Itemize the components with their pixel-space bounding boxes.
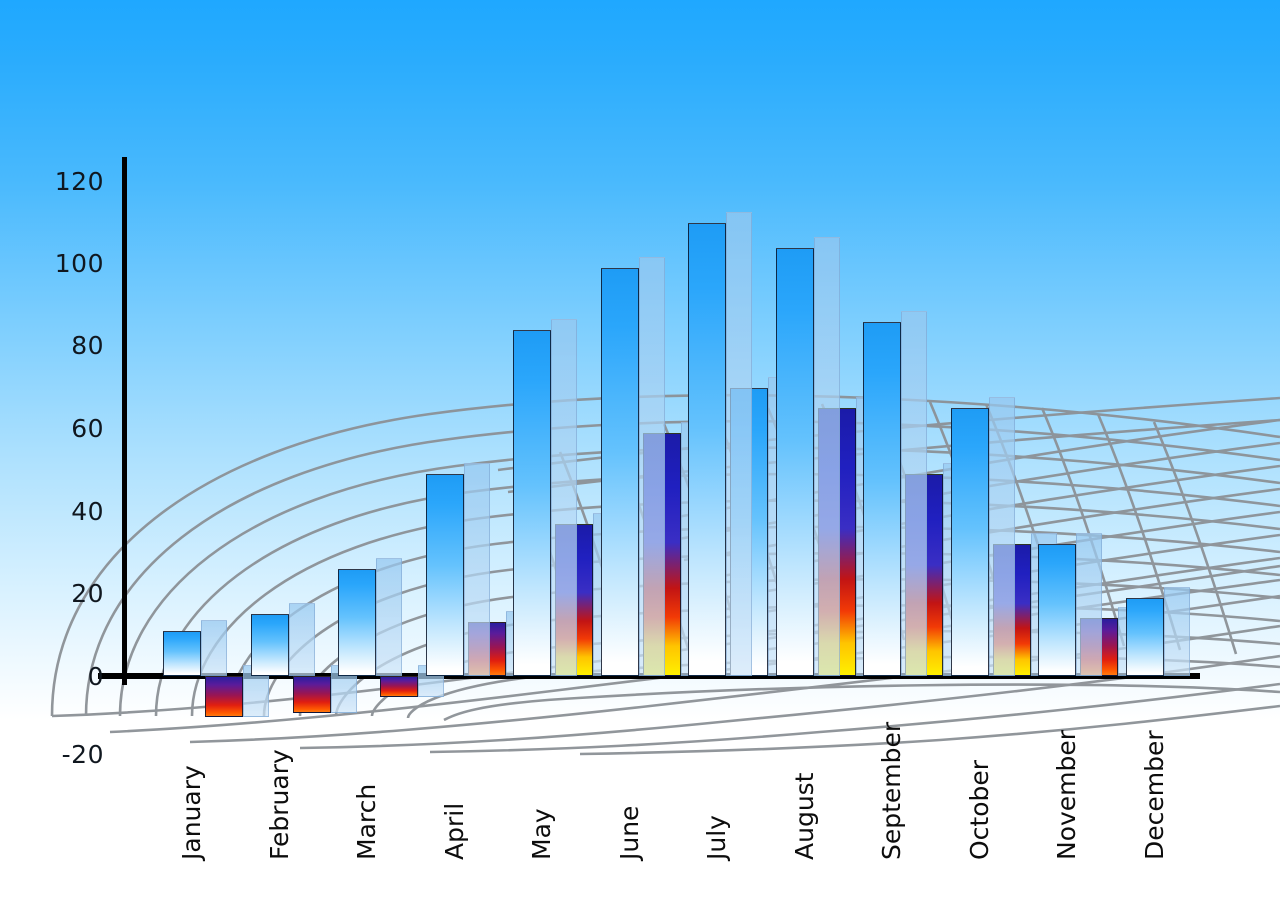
bar-side-face: [989, 397, 1015, 676]
bar-february-series1: [251, 614, 289, 676]
bar-april-series1: [426, 474, 464, 676]
bar-march-series1: [338, 569, 376, 676]
x-label-september: September: [877, 722, 906, 860]
bar-side-face: [464, 463, 490, 676]
y-axis-line: [122, 157, 127, 685]
bar-side-face: [814, 237, 840, 676]
bar-side-face: [551, 319, 577, 676]
bar-side-face: [726, 212, 752, 676]
y-tick-label-20: 20: [0, 579, 104, 608]
bar-july-series1: [688, 223, 726, 676]
x-label-october: October: [965, 760, 994, 860]
bar-front-face: [776, 248, 814, 676]
bar-front-face: [251, 614, 289, 676]
bar-february-series2: [293, 676, 331, 713]
bar-front-face: [293, 676, 331, 713]
x-label-december: December: [1140, 730, 1169, 860]
bar-side-face: [201, 620, 227, 676]
bar-front-face: [1126, 598, 1164, 676]
bar-front-face: [1038, 544, 1076, 676]
x-label-may: May: [527, 808, 556, 860]
bar-front-face: [426, 474, 464, 676]
x-label-july: July: [702, 815, 731, 860]
bar-side-face: [289, 603, 315, 676]
bar-side-face: [1164, 587, 1190, 676]
bar-january-series2: [205, 676, 243, 717]
x-label-august: August: [790, 773, 819, 861]
bar-august-series1: [776, 248, 814, 676]
bar-december-series1: [1126, 598, 1164, 676]
bar-front-face: [688, 223, 726, 676]
x-label-june: June: [615, 806, 644, 860]
y-tick-label-100: 100: [0, 249, 104, 278]
y-tick-0: [110, 674, 132, 678]
bar-may-series1: [513, 330, 551, 676]
y-tick-label-120: 120: [0, 167, 104, 196]
y-tick-label-neg20: -20: [0, 740, 104, 769]
bar-front-face: [513, 330, 551, 676]
bar-september-series1: [863, 322, 901, 676]
bar-side-face: [639, 257, 665, 676]
bar-side-face: [1076, 533, 1102, 676]
y-tick-label-40: 40: [0, 497, 104, 526]
bar-june-series1: [601, 268, 639, 676]
bar-front-face: [601, 268, 639, 676]
x-label-january: January: [177, 765, 206, 860]
bar-front-face: [951, 408, 989, 676]
bar-front-face: [380, 676, 418, 697]
bar-front-face: [863, 322, 901, 676]
chart-canvas: 120 100 80 60 40 20 0 -20 JanuaryFebruar…: [0, 0, 1280, 905]
bar-front-face: [205, 676, 243, 717]
bar-front-face: [163, 631, 201, 676]
bar-side-face: [376, 558, 402, 676]
bar-october-series1: [951, 408, 989, 676]
x-label-april: April: [440, 803, 469, 860]
x-label-march: March: [352, 784, 381, 860]
bar-march-series2: [380, 676, 418, 697]
y-tick-label-80: 80: [0, 331, 104, 360]
plot-area: 120 100 80 60 40 20 0 -20 JanuaryFebruar…: [0, 0, 1280, 905]
bar-november-series1: [1038, 544, 1076, 676]
bar-front-face: [338, 569, 376, 676]
bar-january-series1: [163, 631, 201, 676]
x-label-november: November: [1052, 730, 1081, 860]
y-tick-label-0: 0: [0, 662, 104, 691]
x-label-february: February: [265, 749, 294, 860]
y-tick-label-60: 60: [0, 414, 104, 443]
bar-side-face: [901, 311, 927, 676]
